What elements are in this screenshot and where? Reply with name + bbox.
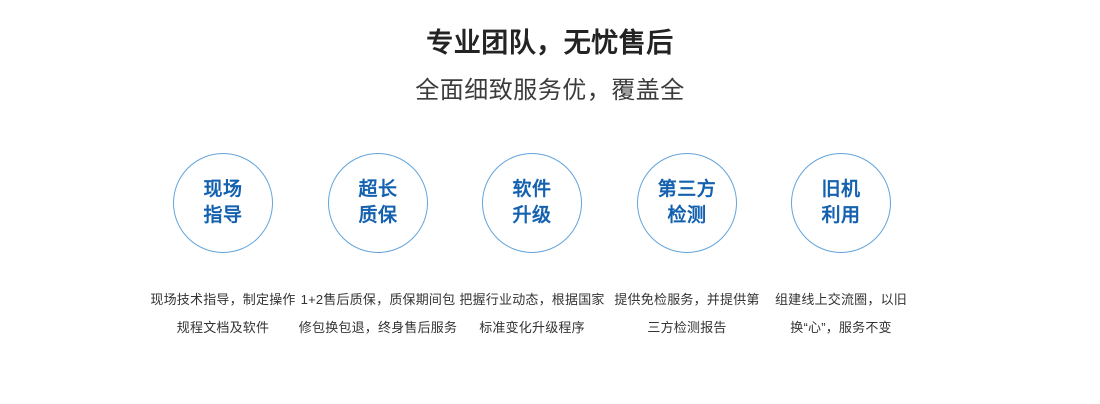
feature-item-third-party-inspection[interactable]: 第三方 检测 提供免检服务，并提供第 三方检测报告 [610, 153, 764, 355]
feature-circle[interactable]: 软件 升级 [482, 153, 582, 253]
page-subtitle: 全面细致服务优，覆盖全 [0, 60, 1100, 106]
feature-circle[interactable]: 超长 质保 [328, 153, 428, 253]
feature-circle-label: 软件 升级 [512, 177, 551, 229]
feature-circle[interactable]: 现场 指导 [173, 153, 273, 253]
feature-circle-label: 旧机 利用 [821, 177, 860, 229]
feature-caption: 现场技术指导，制定操作 规程文档及软件 [138, 286, 308, 342]
feature-caption: 提供免检服务，并提供第 三方检测报告 [602, 286, 772, 342]
feature-circle[interactable]: 第三方 检测 [637, 153, 737, 253]
feature-circle-label: 第三方 检测 [658, 177, 717, 229]
service-promise-section: 专业团队，无忧售后 全面细致服务优，覆盖全 现场 指导 现场技术指导，制定操作 … [0, 0, 1100, 404]
feature-list: 现场 指导 现场技术指导，制定操作 规程文档及软件 超长 质保 1+2售后质保，… [0, 153, 1100, 353]
feature-circle-label: 现场 指导 [203, 177, 242, 229]
feature-caption: 把握行业动态，根据国家 标准变化升级程序 [447, 286, 617, 342]
feature-item-extended-warranty[interactable]: 超长 质保 1+2售后质保，质保期间包 修包换包退，终身售后服务 [301, 153, 455, 355]
feature-caption: 组建线上交流圈，以旧 换“心”，服务不变 [756, 286, 926, 342]
heading-block: 专业团队，无忧售后 全面细致服务优，覆盖全 [0, 0, 1100, 106]
feature-circle-label: 超长 质保 [358, 177, 397, 229]
feature-item-onsite-guidance[interactable]: 现场 指导 现场技术指导，制定操作 规程文档及软件 [146, 153, 300, 355]
feature-caption: 1+2售后质保，质保期间包 修包换包退，终身售后服务 [293, 286, 463, 342]
feature-item-old-machine-reuse[interactable]: 旧机 利用 组建线上交流圈，以旧 换“心”，服务不变 [764, 153, 918, 355]
page-title: 专业团队，无忧售后 [0, 0, 1100, 60]
feature-circle[interactable]: 旧机 利用 [791, 153, 891, 253]
feature-item-software-upgrade[interactable]: 软件 升级 把握行业动态，根据国家 标准变化升级程序 [455, 153, 609, 355]
